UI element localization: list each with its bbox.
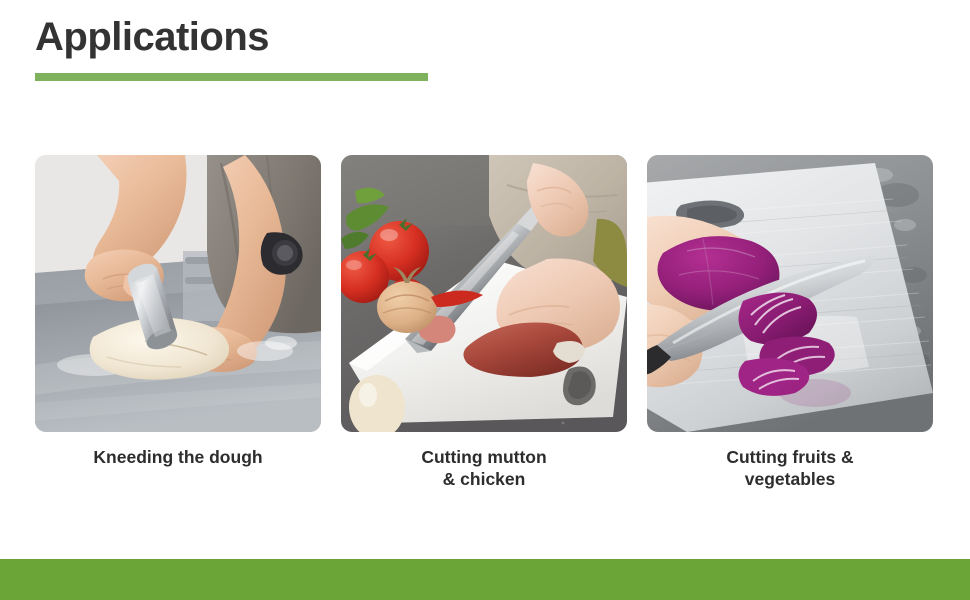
card-caption: Cutting mutton & chicken bbox=[421, 446, 546, 491]
card-caption: Kneeding the dough bbox=[93, 446, 262, 468]
photo-kneading-dough bbox=[35, 155, 321, 432]
application-card[interactable]: Cutting fruits & vegetables bbox=[647, 155, 933, 491]
kneading-dough-illustration bbox=[35, 155, 321, 432]
page-title: Applications bbox=[35, 14, 435, 60]
photo-cutting-meat bbox=[341, 155, 627, 432]
title-underline-rule bbox=[35, 73, 428, 81]
cutting-vegetables-illustration bbox=[647, 155, 933, 432]
application-card[interactable]: Cutting mutton & chicken bbox=[341, 155, 627, 491]
header: Applications bbox=[35, 14, 435, 60]
footer-accent-bar bbox=[0, 559, 970, 600]
photo-cutting-vegetables bbox=[647, 155, 933, 432]
cutting-meat-illustration bbox=[341, 155, 627, 432]
application-cards: Kneeding the dough bbox=[35, 155, 935, 491]
application-card[interactable]: Kneeding the dough bbox=[35, 155, 321, 491]
card-caption: Cutting fruits & vegetables bbox=[726, 446, 853, 491]
